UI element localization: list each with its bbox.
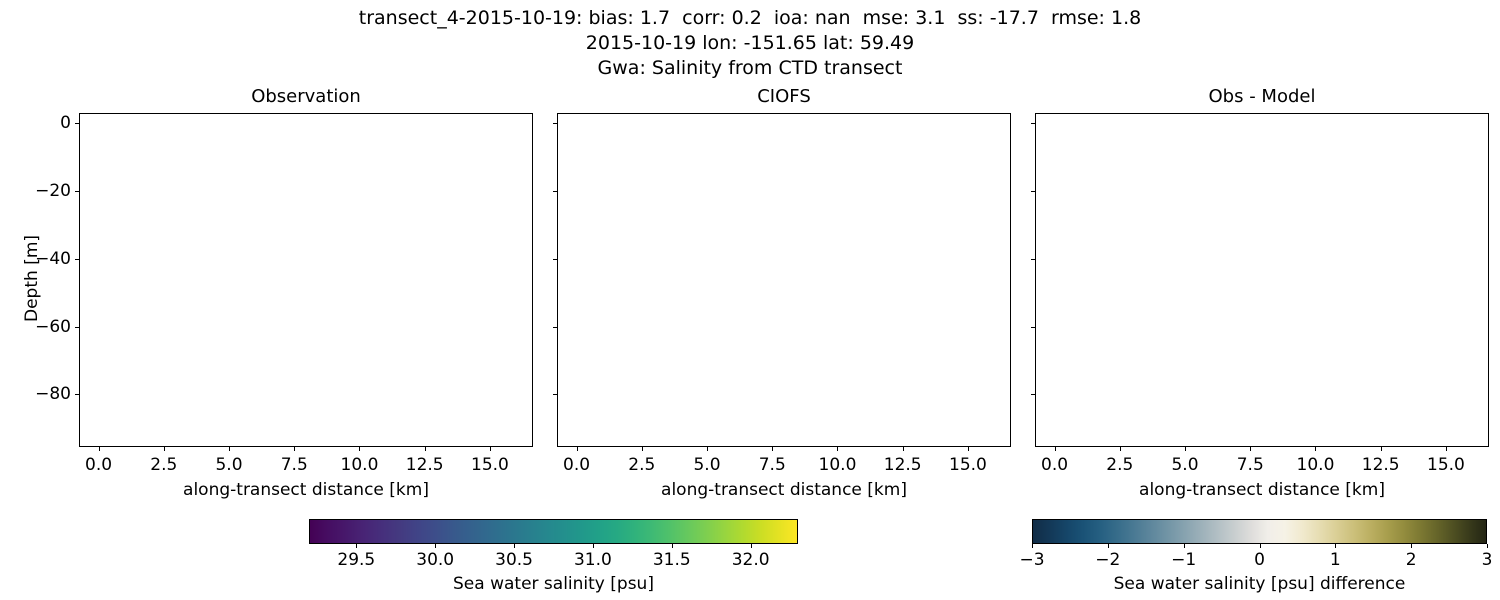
colorbar-tick-label: −3 — [1019, 550, 1044, 570]
panel-ciofs: CIOFS — [557, 113, 1011, 447]
colorbar-tick-label: 30.0 — [416, 550, 454, 570]
x-tick — [1120, 447, 1121, 451]
suptitle-line-location: 2015-10-19 lon: -151.65 lat: 59.49 — [0, 31, 1500, 56]
colorbar-tick — [1335, 544, 1336, 548]
panel-obs-minus-model: Obs - Model — [1035, 113, 1489, 447]
x-tick — [1381, 447, 1382, 451]
y-tick — [75, 327, 79, 328]
y-tick — [553, 394, 557, 395]
y-tick — [75, 191, 79, 192]
colorbar-tick — [1108, 544, 1109, 548]
y-tick — [1031, 259, 1035, 260]
colorbar-tick-label: 31.0 — [574, 550, 612, 570]
colorbar-tick-label: 2 — [1406, 550, 1417, 570]
x-tick-label: 5.0 — [693, 455, 720, 475]
x-tick — [577, 447, 578, 451]
figure-suptitle: transect_4-2015-10-19: bias: 1.7 corr: 0… — [0, 6, 1500, 81]
colorbar-tick-label: 0 — [1254, 550, 1265, 570]
y-tick — [1031, 191, 1035, 192]
colorbar-tick — [1184, 544, 1185, 548]
colorbar-tick — [672, 544, 673, 548]
y-tick — [1031, 123, 1035, 124]
y-tick — [75, 123, 79, 124]
colorbar-tick — [435, 544, 436, 548]
colorbar-tick-label: 31.5 — [653, 550, 691, 570]
colorbar-tick — [593, 544, 594, 548]
x-tick — [490, 447, 491, 451]
y-tick — [553, 259, 557, 260]
colorbar-tick — [751, 544, 752, 548]
x-tick-label: 7.5 — [759, 455, 786, 475]
colorbar-tick-label: 29.5 — [337, 550, 375, 570]
colorbar-tick-label: 3 — [1482, 550, 1493, 570]
y-tick-label: 0 — [19, 113, 71, 133]
x-tick-label: 7.5 — [281, 455, 308, 475]
panel-title-ciofs: CIOFS — [557, 86, 1011, 107]
colorbar-axis-label: Sea water salinity [psu] — [309, 574, 798, 594]
x-tick-label: 10.0 — [819, 455, 857, 475]
colorbar-salinity — [309, 519, 798, 544]
x-tick — [1250, 447, 1251, 451]
y-tick — [553, 191, 557, 192]
x-tick — [425, 447, 426, 451]
colorbar-tick — [1260, 544, 1261, 548]
colorbar-tick-label: 32.0 — [732, 550, 770, 570]
suptitle-line-source: Gwa: Salinity from CTD transect — [0, 56, 1500, 81]
x-tick-label: 2.5 — [1106, 455, 1133, 475]
x-tick — [294, 447, 295, 451]
y-tick — [553, 327, 557, 328]
x-tick-label: 0.0 — [1041, 455, 1068, 475]
colorbar-axis-label: Sea water salinity [psu] difference — [1032, 574, 1487, 594]
x-tick — [1055, 447, 1056, 451]
colorbar-salinity-difference — [1032, 519, 1487, 544]
x-tick-label: 2.5 — [150, 455, 177, 475]
colorbar-tick-label: −1 — [1171, 550, 1196, 570]
x-tick-label: 0.0 — [85, 455, 112, 475]
y-tick-label: −80 — [19, 384, 71, 404]
x-tick-label: 15.0 — [949, 455, 987, 475]
y-axis-label: Depth [m] — [22, 235, 42, 322]
suptitle-line-metrics: transect_4-2015-10-19: bias: 1.7 corr: 0… — [0, 6, 1500, 31]
x-tick-label: 15.0 — [1427, 455, 1465, 475]
x-tick — [99, 447, 100, 451]
x-tick — [1315, 447, 1316, 451]
x-tick — [837, 447, 838, 451]
y-tick-label: −20 — [19, 181, 71, 201]
y-tick — [75, 394, 79, 395]
colorbar-border-salinity — [309, 519, 798, 544]
x-tick-label: 0.0 — [563, 455, 590, 475]
x-tick — [772, 447, 773, 451]
x-tick-label: 5.0 — [1171, 455, 1198, 475]
colorbar-tick-label: −2 — [1095, 550, 1120, 570]
colorbar-tick — [514, 544, 515, 548]
x-tick-label: 10.0 — [1297, 455, 1335, 475]
x-tick-label: 12.5 — [406, 455, 444, 475]
x-tick-label: 7.5 — [1237, 455, 1264, 475]
x-tick — [642, 447, 643, 451]
x-tick — [164, 447, 165, 451]
x-tick — [359, 447, 360, 451]
axes-frame-observation — [79, 113, 533, 447]
x-tick-label: 12.5 — [1362, 455, 1400, 475]
colorbar-tick — [356, 544, 357, 548]
x-axis-label: along-transect distance [km] — [557, 480, 1011, 500]
panel-title-obs-minus-model: Obs - Model — [1035, 86, 1489, 107]
x-tick — [229, 447, 230, 451]
x-tick-label: 15.0 — [471, 455, 509, 475]
axes-frame-obs-minus-model — [1035, 113, 1489, 447]
y-tick — [1031, 327, 1035, 328]
axes-frame-ciofs — [557, 113, 1011, 447]
colorbar-tick — [1487, 544, 1488, 548]
x-tick — [968, 447, 969, 451]
y-tick — [1031, 394, 1035, 395]
panel-title-observation: Observation — [79, 86, 533, 107]
x-tick — [1446, 447, 1447, 451]
y-tick — [75, 259, 79, 260]
colorbar-tick-label: 30.5 — [495, 550, 533, 570]
colorbar-tick — [1411, 544, 1412, 548]
x-tick-label: 10.0 — [341, 455, 379, 475]
panel-observation: Observation — [79, 113, 533, 447]
y-tick — [553, 123, 557, 124]
colorbar-tick — [1032, 544, 1033, 548]
x-tick — [1185, 447, 1186, 451]
colorbar-tick-label: 1 — [1330, 550, 1341, 570]
x-axis-label: along-transect distance [km] — [1035, 480, 1489, 500]
x-axis-label: along-transect distance [km] — [79, 480, 533, 500]
x-tick-label: 5.0 — [215, 455, 242, 475]
x-tick-label: 12.5 — [884, 455, 922, 475]
x-tick — [707, 447, 708, 451]
colorbar-border-salinity-difference — [1032, 519, 1487, 544]
x-tick — [903, 447, 904, 451]
figure-canvas: transect_4-2015-10-19: bias: 1.7 corr: 0… — [0, 0, 1500, 600]
x-tick-label: 2.5 — [628, 455, 655, 475]
